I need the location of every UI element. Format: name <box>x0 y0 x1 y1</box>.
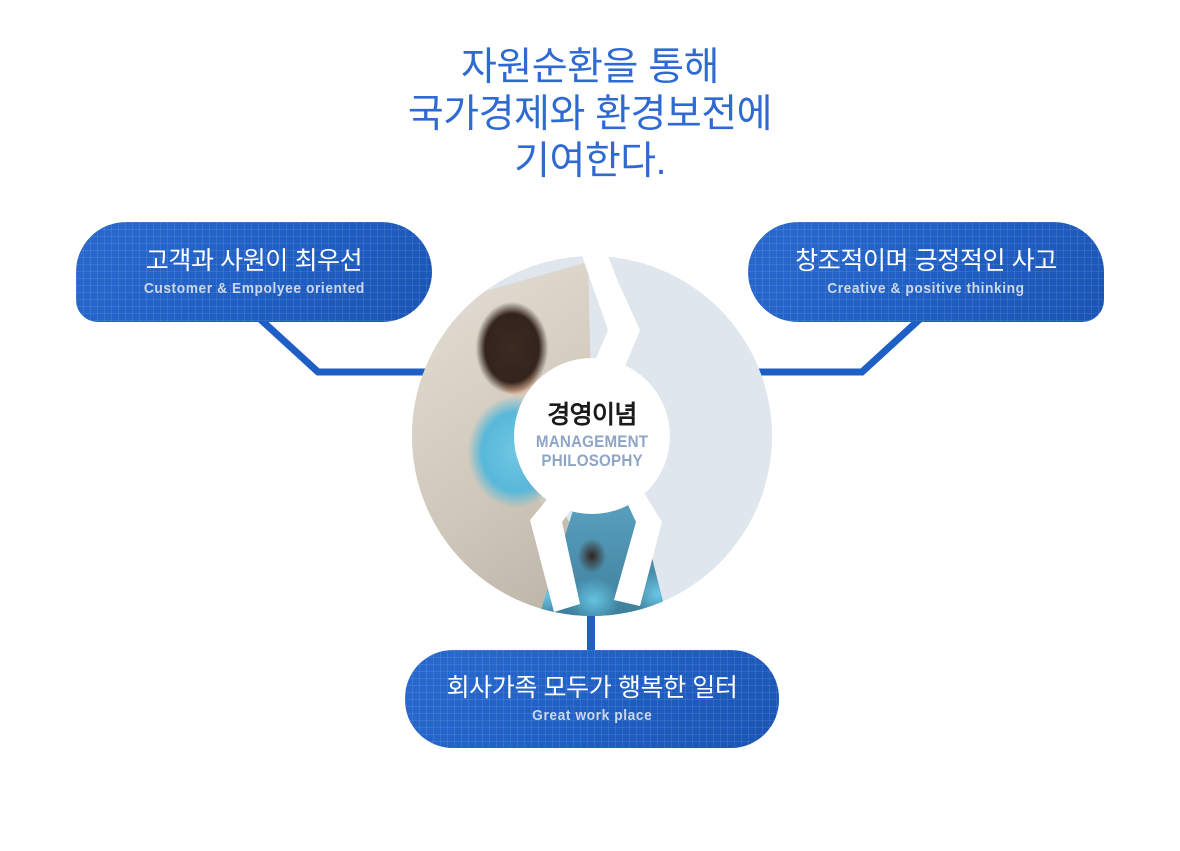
center-label-en-line2: PHILOSOPHY <box>541 452 642 471</box>
philosophy-circle: 경영이념 MANAGEMENT PHILOSOPHY <box>412 256 772 616</box>
badge-customer-employee[interactable]: 고객과 사원이 최우선 Customer & Empolyee oriented <box>76 222 432 322</box>
center-label: 경영이념 MANAGEMENT PHILOSOPHY <box>514 358 670 514</box>
donut-chart: 경영이념 MANAGEMENT PHILOSOPHY <box>412 256 772 616</box>
badge-left-ko: 고객과 사원이 최우선 <box>146 247 363 275</box>
center-label-en-line1: MANAGEMENT <box>536 433 648 452</box>
center-label-ko: 경영이념 <box>547 401 637 429</box>
badge-great-workplace[interactable]: 회사가족 모두가 행복한 일터 Great work place <box>405 650 779 748</box>
badge-right-ko: 창조적이며 긍정적인 사고 <box>795 247 1057 275</box>
badge-bottom-en: Great work place <box>532 707 652 725</box>
badge-left-en: Customer & Empolyee oriented <box>143 280 364 298</box>
badge-bottom-ko: 회사가족 모두가 행복한 일터 <box>447 674 738 702</box>
badge-right-en: Creative & positive thinking <box>827 280 1024 298</box>
badge-creative-thinking[interactable]: 창조적이며 긍정적인 사고 Creative & positive thinki… <box>748 222 1104 322</box>
management-philosophy-infographic: 자원순환을 통해 국가경제와 환경보전에 기여한다. <box>0 0 1180 851</box>
